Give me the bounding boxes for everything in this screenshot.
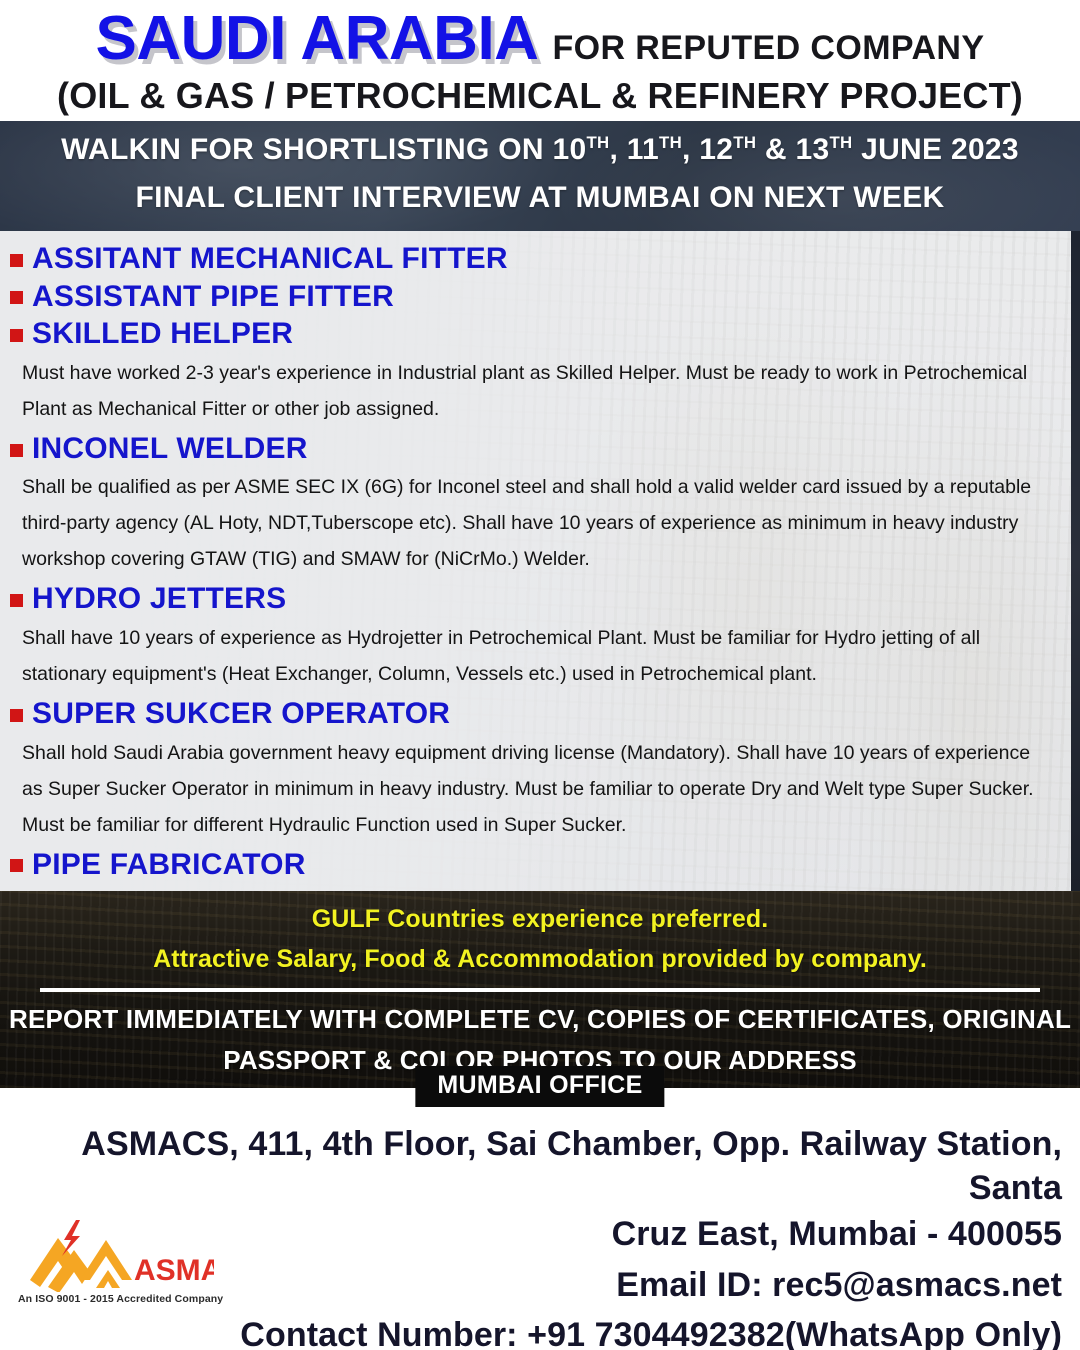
bullet-square-icon — [10, 291, 23, 304]
job-description: Must have worked 2-3 year's experience i… — [10, 355, 1062, 427]
phone-line[interactable]: Contact Number: +91 7304492382(WhatsApp … — [18, 1313, 1062, 1350]
job-description: Shall be qualified as per ASME SEC IX (6… — [10, 469, 1062, 577]
bullet-square-icon — [10, 444, 23, 457]
job-positions-section: ASSITANT MECHANICAL FITTER ASSISTANT PIP… — [0, 231, 1080, 891]
address-line-1: ASMACS, 411, 4th Floor, Sai Chamber, Opp… — [18, 1122, 1062, 1210]
ordinal-13th: TH — [829, 133, 852, 152]
job-title-row: SUPER SUKCER OPERATOR — [10, 696, 1062, 733]
walkin-date-line: WALKIN FOR SHORTLISTING ON 10TH, 11TH, 1… — [0, 133, 1080, 167]
contact-section: MUMBAI OFFICE ASMACS, 411, 4th Floor, Sa… — [0, 1088, 1080, 1320]
walkin-mid-1: , 11 — [609, 133, 659, 166]
asmacs-logo: ASMACS An ISO 9001 - 2015 Accredited Com… — [18, 1218, 214, 1310]
company-subtitle: FOR REPUTED COMPANY — [552, 31, 984, 67]
bullet-square-icon — [10, 254, 23, 267]
right-edge-strip — [1071, 231, 1080, 891]
bullet-square-icon — [10, 709, 23, 722]
divider-rule — [40, 988, 1040, 992]
job-list: ASSITANT MECHANICAL FITTER ASSISTANT PIP… — [10, 241, 1062, 891]
job-title-row: ASSISTANT PIPE FITTER — [10, 279, 1062, 316]
interview-schedule-band: WALKIN FOR SHORTLISTING ON 10TH, 11TH, 1… — [0, 121, 1080, 231]
ordinal-11th: TH — [659, 133, 682, 152]
walkin-suffix: JUNE 2023 — [852, 133, 1018, 166]
job-title-row: INCONEL WELDER — [10, 431, 1062, 468]
job-title-label: INCONEL WELDER — [32, 431, 308, 468]
report-instruction-line-1: REPORT IMMEDIATELY WITH COMPLETE CV, COP… — [0, 1004, 1080, 1035]
ordinal-10th: TH — [586, 133, 609, 152]
job-advertisement-poster: SAUDI ARABIA FOR REPUTED COMPANY (OIL & … — [0, 0, 1080, 1350]
walkin-mid-2: , 12 — [682, 133, 733, 166]
job-title-label: SUPER SUKCER OPERATOR — [32, 696, 450, 733]
job-description: Shall hold Saudi Arabia government heavy… — [10, 735, 1062, 843]
asmacs-wordmark-text: ASMACS — [134, 1254, 214, 1287]
poster-header: SAUDI ARABIA FOR REPUTED COMPANY (OIL & … — [0, 0, 1080, 121]
ordinal-12th: TH — [733, 133, 756, 152]
job-title-label: ASSITANT MECHANICAL FITTER — [32, 241, 508, 278]
job-title-label: PIPE FABRICATOR — [32, 847, 306, 884]
main-title-row: SAUDI ARABIA FOR REPUTED COMPANY — [0, 6, 1080, 71]
country-title: SAUDI ARABIA — [96, 6, 539, 71]
walkin-mid-3: & 13 — [756, 133, 829, 166]
bullet-square-icon — [10, 594, 23, 607]
gulf-experience-note: GULF Countries experience preferred. — [0, 905, 1080, 934]
salary-benefits-note: Attractive Salary, Food & Accommodation … — [0, 945, 1080, 974]
job-title-label: HYDRO JETTERS — [32, 581, 286, 618]
walkin-prefix: WALKIN FOR SHORTLISTING ON 10 — [61, 133, 586, 166]
job-title-row: ASSITANT MECHANICAL FITTER — [10, 241, 1062, 278]
benefits-and-instructions-band: GULF Countries experience preferred. Att… — [0, 891, 1080, 1088]
job-title-row: PIPE FABRICATOR — [10, 847, 1062, 884]
job-title-label: SKILLED HELPER — [32, 316, 293, 353]
final-interview-line: FINAL CLIENT INTERVIEW AT MUMBAI ON NEXT… — [0, 181, 1080, 215]
job-title-row: SKILLED HELPER — [10, 316, 1062, 353]
bullet-square-icon — [10, 859, 23, 872]
project-scope-title: (OIL & GAS / PETROCHEMICAL & REFINERY PR… — [0, 75, 1080, 117]
office-badge: MUMBAI OFFICE — [415, 1066, 664, 1107]
job-description: Shall have 10 years of experience as Pip… — [10, 885, 1062, 891]
asmacs-logo-mark: ASMACS — [18, 1218, 214, 1292]
job-description: Shall have 10 years of experience as Hyd… — [10, 620, 1062, 692]
iso-certification-text: An ISO 9001 - 2015 Accredited Company — [18, 1293, 214, 1305]
job-title-row: HYDRO JETTERS — [10, 581, 1062, 618]
bullet-square-icon — [10, 329, 23, 342]
job-title-label: ASSISTANT PIPE FITTER — [32, 279, 394, 316]
